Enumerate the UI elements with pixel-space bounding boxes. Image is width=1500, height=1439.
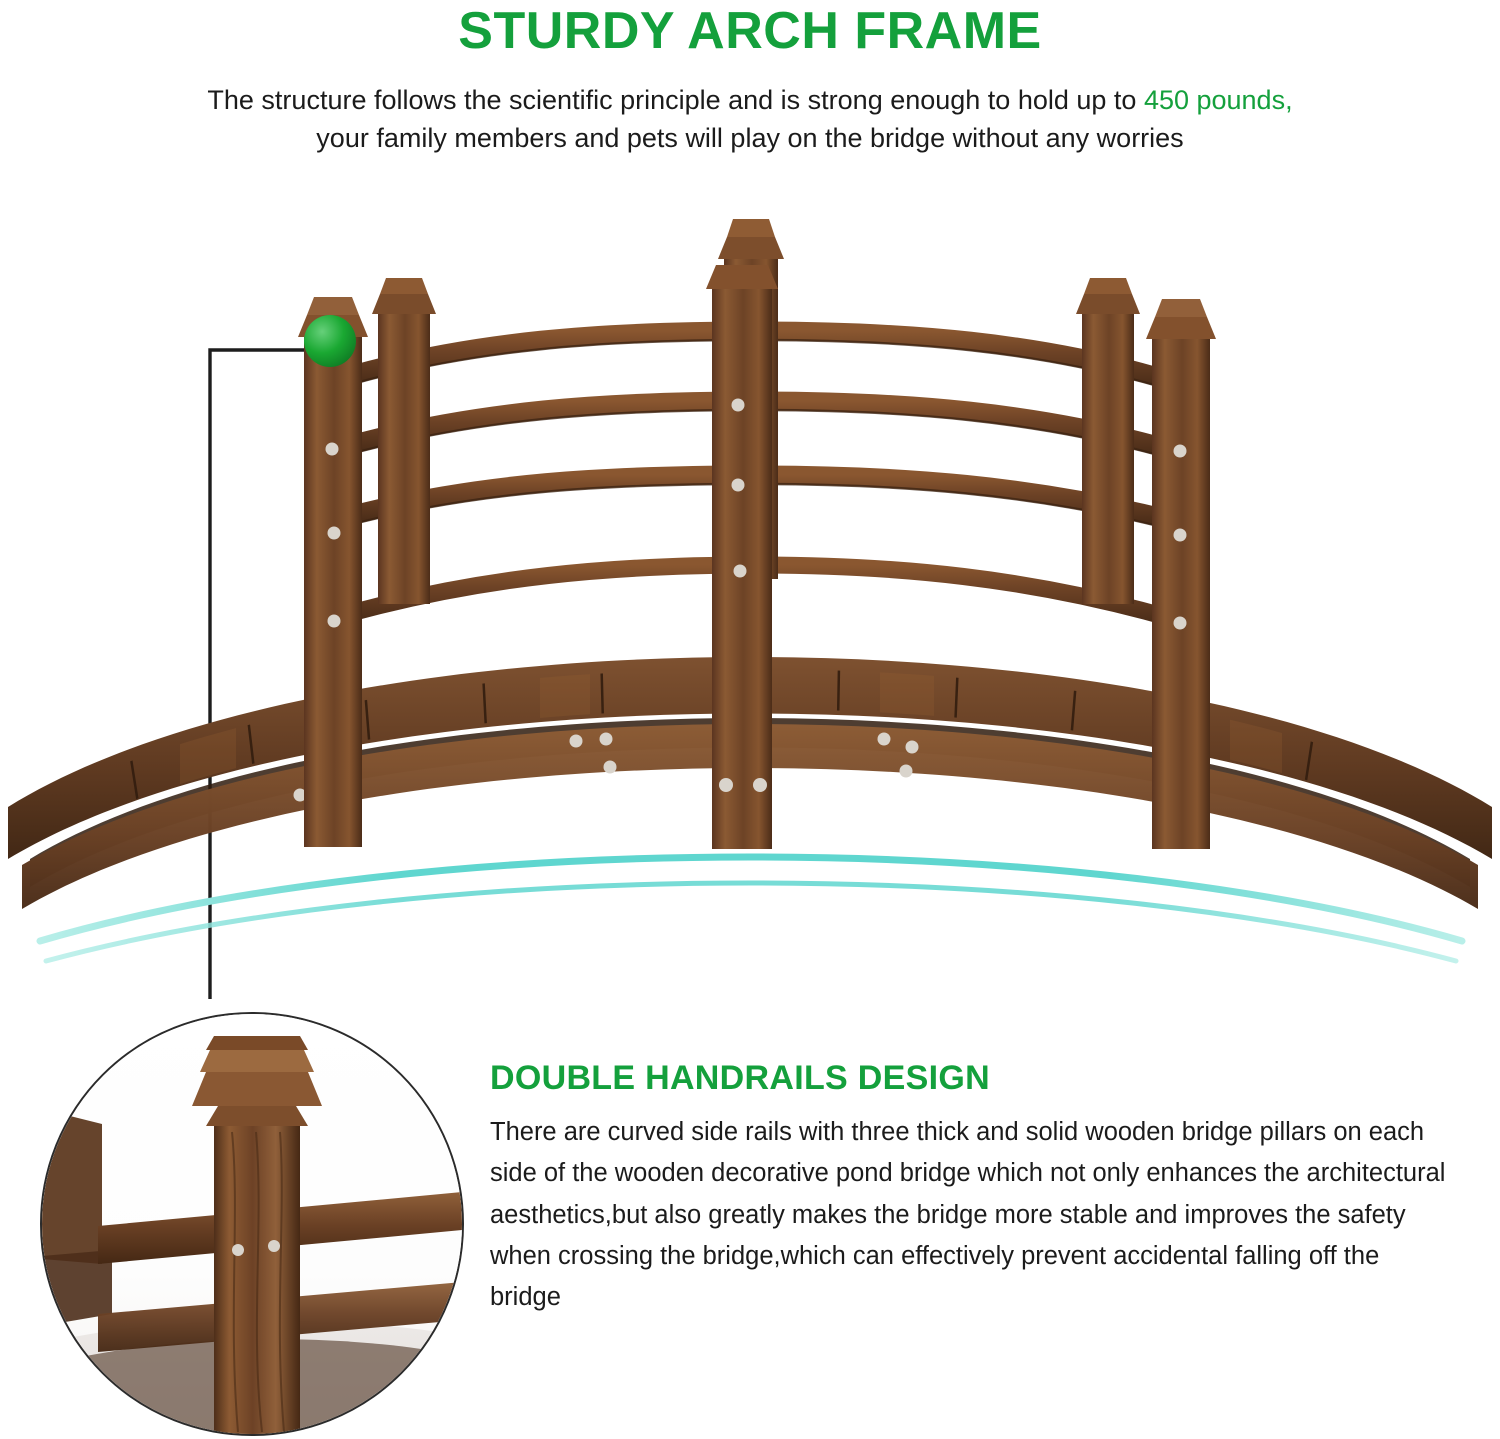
double-handrails-section: DOUBLE HANDRAILS DESIGN There are curved… xyxy=(490,1059,1450,1318)
bridge-post-back-left xyxy=(372,278,436,604)
subtitle-highlight-weight: 450 pounds, xyxy=(1144,85,1293,115)
page-subtitle: The structure follows the scientific pri… xyxy=(40,81,1460,158)
detail-background-rail xyxy=(42,1109,112,1326)
detail-zoom-circle xyxy=(40,1012,464,1436)
bridge-product-illustration xyxy=(0,219,1500,999)
section-body: There are curved side rails with three t… xyxy=(490,1112,1450,1318)
bridge-post-center-front xyxy=(706,265,778,849)
bridge-post-left-front xyxy=(298,297,368,847)
bridge-post-right-front xyxy=(1146,299,1216,849)
arch-curve-indicator xyxy=(40,857,1462,961)
subtitle-text-tail: your family members and pets will play o… xyxy=(316,123,1183,153)
post-cap-highlight-marker xyxy=(304,315,356,367)
page-title: STURDY ARCH FRAME xyxy=(0,4,1500,59)
section-title: DOUBLE HANDRAILS DESIGN xyxy=(490,1059,1450,1098)
bridge-post-back-right xyxy=(1076,278,1140,604)
subtitle-text-lead: The structure follows the scientific pri… xyxy=(207,85,1144,115)
